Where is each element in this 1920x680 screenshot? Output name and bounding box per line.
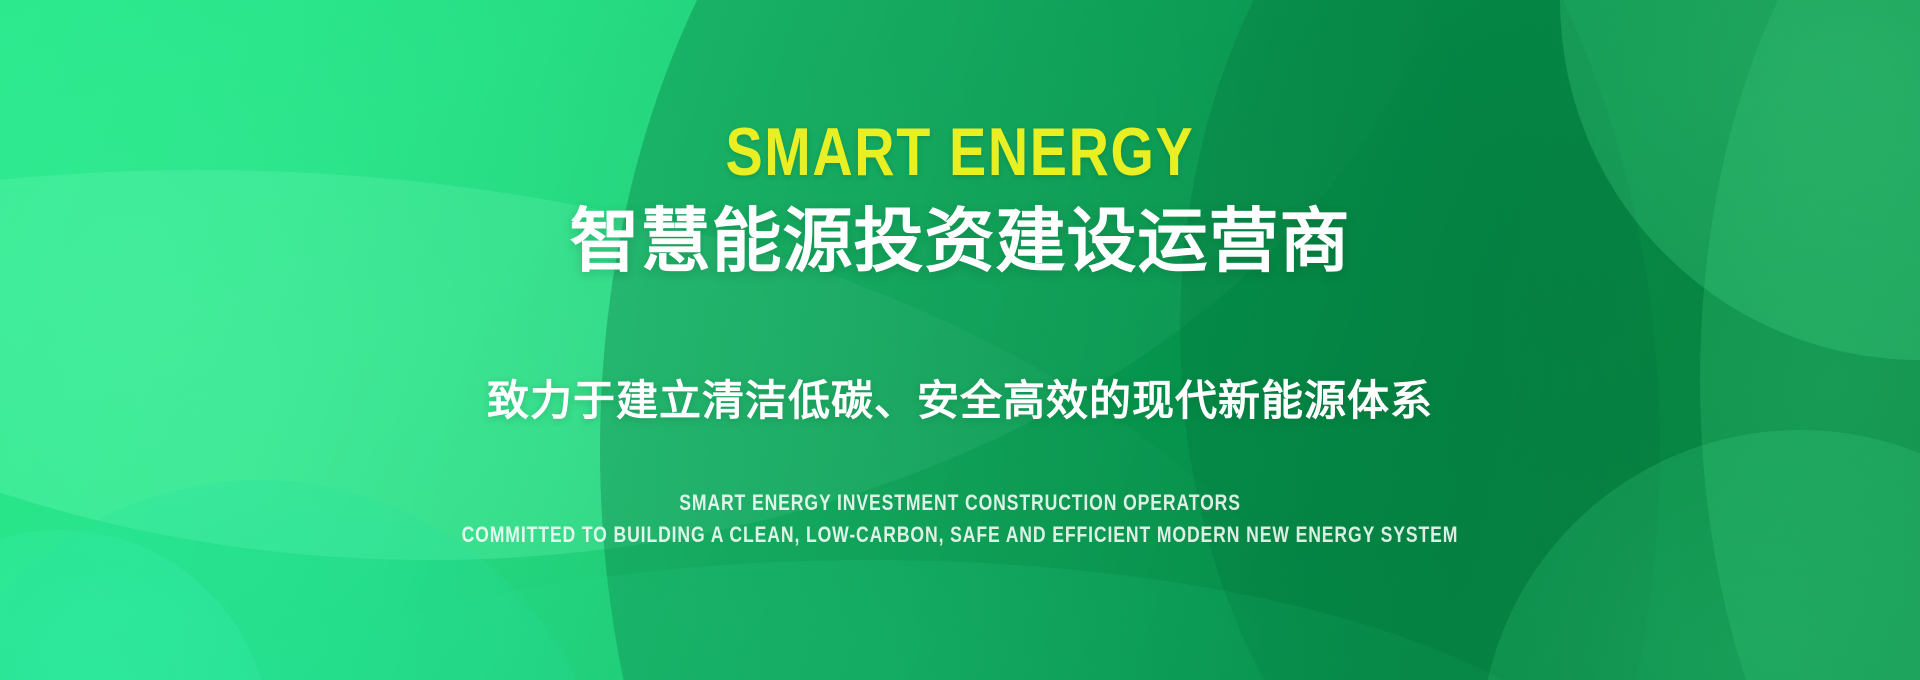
- banner-english-line-1: SMART ENERGY INVESTMENT CONSTRUCTION OPE…: [679, 490, 1241, 516]
- banner-subheadline-chinese: 致力于建立清洁低碳、安全高效的现代新能源体系: [487, 378, 1433, 424]
- smart-energy-hero-banner: SMART ENERGY 智慧能源投资建设运营商 致力于建立清洁低碳、安全高效的…: [0, 0, 1920, 680]
- banner-headline-chinese: 智慧能源投资建设运营商: [570, 204, 1351, 280]
- banner-eyebrow-smart-energy: SMART ENERGY: [726, 118, 1195, 186]
- banner-english-line-2: COMMITTED TO BUILDING A CLEAN, LOW-CARBO…: [462, 522, 1459, 548]
- banner-content: SMART ENERGY 智慧能源投资建设运营商 致力于建立清洁低碳、安全高效的…: [0, 0, 1920, 680]
- banner-english-translation-block: SMART ENERGY INVESTMENT CONSTRUCTION OPE…: [337, 490, 1583, 549]
